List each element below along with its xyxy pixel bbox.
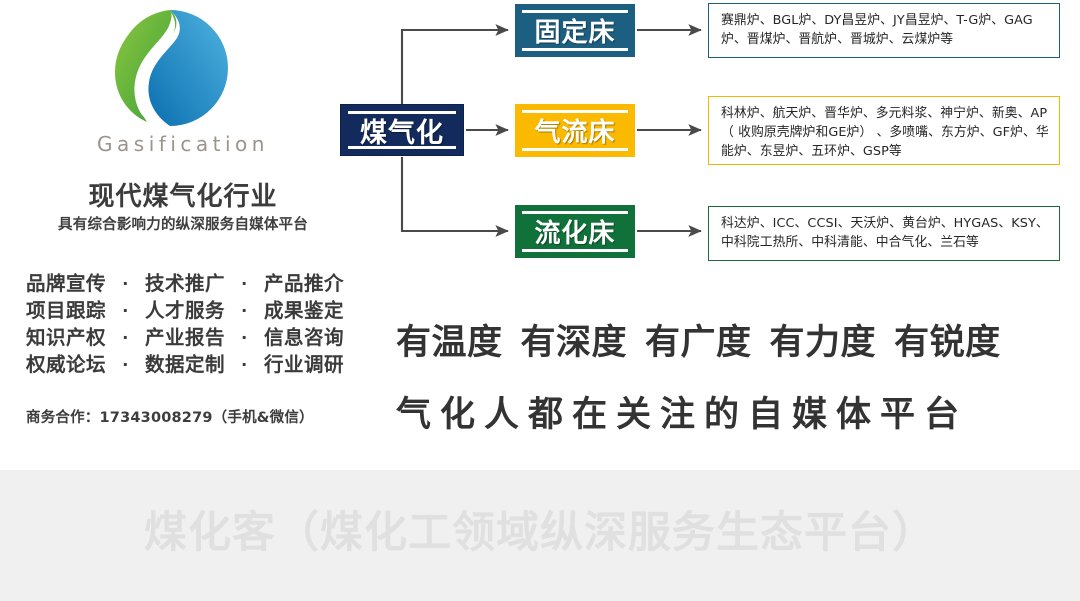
diagram-node-fluidized-bed[interactable]: 流化床 xyxy=(515,205,635,258)
node-label: 固定床 xyxy=(534,12,615,49)
service-item: 成果鉴定 xyxy=(264,297,344,324)
service-item: 知识产权 xyxy=(26,324,106,351)
slogan-part: 有锐度 xyxy=(894,323,1001,363)
service-list: 品牌宣传 · 技术推广 · 产品推介 项目跟踪 · 人才服务 · 成果鉴定 知识… xyxy=(26,270,344,378)
detail-box-entrained-flow-bed: 科林炉、航天炉、晋华炉、多元料浆、神宁炉、新奥、AP（ 收购原壳牌炉和GE炉） … xyxy=(708,96,1060,165)
diagram-node-fixed-bed[interactable]: 固定床 xyxy=(515,4,635,57)
service-item: 技术推广 xyxy=(145,270,225,297)
service-separator: · xyxy=(239,324,250,351)
service-row: 品牌宣传 · 技术推广 · 产品推介 xyxy=(26,270,344,297)
node-rule-top xyxy=(522,110,628,113)
service-item: 品牌宣传 xyxy=(26,270,106,297)
diagram-node-root[interactable]: 煤气化 xyxy=(340,104,464,156)
node-label: 流化床 xyxy=(534,213,615,250)
brand-wordmark: Gasification xyxy=(0,132,366,156)
service-separator: · xyxy=(120,270,131,297)
detail-box-fixed-bed: 赛鼎炉、BGL炉、DY昌昱炉、JY昌昱炉、T-G炉、GAG炉、晋煤炉、晋航炉、晋… xyxy=(708,3,1060,58)
detail-box-fluidized-bed: 科达炉、ICC、CCSI、天沃炉、黄台炉、HYGAS、KSY、中科院工热所、中科… xyxy=(708,206,1060,261)
service-separator: · xyxy=(239,270,250,297)
node-rule-top xyxy=(522,10,628,13)
service-separator: · xyxy=(120,297,131,324)
service-item: 权威论坛 xyxy=(26,351,106,378)
poster-canvas: Gasification 现代煤气化行业 具有综合影响力的纵深服务自媒体平台 品… xyxy=(0,0,1080,601)
node-label: 气流床 xyxy=(534,112,615,149)
service-row: 知识产权 · 产业报告 · 信息咨询 xyxy=(26,324,344,351)
slogan-line-2: 气化人都在关注的自媒体平台 xyxy=(396,386,968,437)
brand-subtitle: 具有综合影响力的纵深服务自媒体平台 xyxy=(0,213,366,234)
slogan-part: 有广度 xyxy=(645,323,752,363)
node-rule-bottom xyxy=(522,148,628,151)
node-rule-top xyxy=(522,211,628,214)
service-row: 项目跟踪 · 人才服务 · 成果鉴定 xyxy=(26,297,344,324)
gasification-leaf-sphere-logo-icon xyxy=(103,4,237,132)
service-item: 产业报告 xyxy=(145,324,225,351)
service-separator: · xyxy=(120,351,131,378)
node-rule-top xyxy=(348,111,456,114)
service-item: 项目跟踪 xyxy=(26,297,106,324)
service-item: 数据定制 xyxy=(145,351,225,378)
slogan-part: 有力度 xyxy=(770,323,877,363)
node-label: 煤气化 xyxy=(360,111,444,150)
service-row: 权威论坛 · 数据定制 · 行业调研 xyxy=(26,351,344,378)
service-item: 信息咨询 xyxy=(264,324,344,351)
node-rule-bottom xyxy=(348,146,456,149)
service-separator: · xyxy=(239,297,250,324)
node-rule-bottom xyxy=(522,48,628,51)
footer-watermark: 煤化客（煤化工领域纵深服务生态平台） xyxy=(0,498,1080,560)
diagram-node-entrained-flow-bed[interactable]: 气流床 xyxy=(515,104,635,157)
service-item: 人才服务 xyxy=(145,297,225,324)
gasification-flow-diagram: 煤气化 固定床 气流床 流化床 赛鼎炉、BGL炉、DY昌昱炉、JY昌昱炉、T-G… xyxy=(330,0,1080,280)
node-rule-bottom xyxy=(522,249,628,252)
service-separator: · xyxy=(120,324,131,351)
slogan-part: 有温度 xyxy=(396,323,503,363)
service-separator: · xyxy=(239,351,250,378)
business-contact: 商务合作：17343008279（手机&微信） xyxy=(26,406,314,427)
slogan-part: 有深度 xyxy=(521,323,628,363)
brand-title: 现代煤气化行业 xyxy=(0,176,366,213)
brand-panel: Gasification 现代煤气化行业 具有综合影响力的纵深服务自媒体平台 品… xyxy=(0,0,366,470)
slogan-line-1: 有温度有深度有广度有力度有锐度 xyxy=(396,314,1001,365)
service-item: 行业调研 xyxy=(264,351,344,378)
